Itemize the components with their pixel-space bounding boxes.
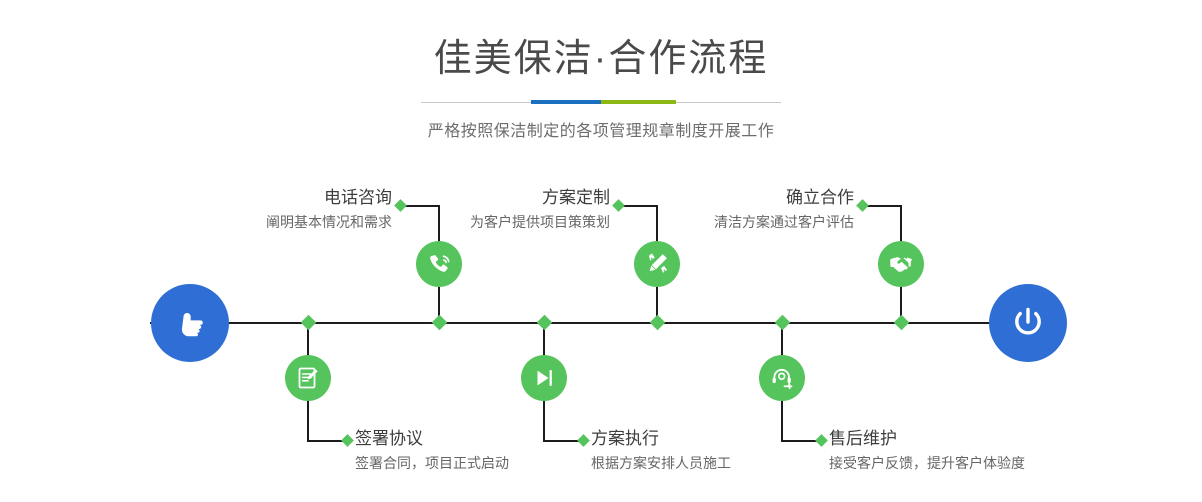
title-divider <box>421 98 781 108</box>
flowchart-page: 佳美保洁·合作流程 严格按照保洁制定的各项管理规章制度开展工作 <box>0 0 1202 502</box>
pencil-ruler-icon <box>643 250 671 278</box>
page-subtitle: 严格按照保洁制定的各项管理规章制度开展工作 <box>0 108 1202 141</box>
step-title-1: 电话咨询 <box>150 187 392 209</box>
axis-marker-phone-consultation <box>432 315 448 331</box>
axis-marker-after-sales <box>775 315 791 331</box>
page-header: 佳美保洁·合作流程 严格按照保洁制定的各项管理规章制度开展工作 <box>0 0 1202 141</box>
label-marker-5 <box>856 199 869 212</box>
play-skip-icon <box>531 365 557 391</box>
power-icon <box>1007 302 1049 344</box>
step-label-establish-cooperation: 确立合作 清洁方案通过客户评估 <box>614 187 854 233</box>
timeline-axis <box>150 322 1056 324</box>
label-elbow-vertical-4 <box>543 399 545 442</box>
axis-marker-establish-cooperation <box>894 315 910 331</box>
label-marker-2 <box>341 434 354 447</box>
step-label-phone-consultation: 电话咨询 阐明基本情况和需求 <box>150 187 392 233</box>
step-desc-4: 根据方案安排人员施工 <box>591 452 841 474</box>
step-title-4: 方案执行 <box>591 428 841 450</box>
divider-green-segment <box>601 100 676 104</box>
step-icon-plan-customization[interactable] <box>634 241 680 287</box>
step-icon-phone-consultation[interactable] <box>416 241 462 287</box>
label-elbow-vertical-2 <box>307 399 309 442</box>
divider-blue-segment <box>531 100 601 104</box>
step-icon-after-sales[interactable] <box>759 355 805 401</box>
step-title-6: 售后维护 <box>829 428 1129 450</box>
label-elbow-vertical-6 <box>781 399 783 442</box>
step-icon-plan-execution[interactable] <box>521 355 567 401</box>
step-title-2: 签署协议 <box>355 428 605 450</box>
page-title: 佳美保洁·合作流程 <box>0 0 1202 84</box>
axis-marker-plan-execution <box>537 315 553 331</box>
axis-marker-sign-agreement <box>301 315 317 331</box>
phone-call-icon <box>425 250 453 278</box>
axis-marker-plan-customization <box>650 315 666 331</box>
step-desc-3: 为客户提供项目策策划 <box>370 211 610 233</box>
step-label-plan-execution: 方案执行 根据方案安排人员施工 <box>591 428 841 474</box>
handshake-icon <box>887 250 915 278</box>
step-label-sign-agreement: 签署协议 签署合同，项目正式启动 <box>355 428 605 474</box>
document-edit-icon <box>295 365 321 391</box>
flow-end-node[interactable] <box>989 284 1067 362</box>
label-elbow-vertical-5 <box>900 205 902 243</box>
step-desc-6: 接受客户反馈，提升客户体验度 <box>829 452 1129 474</box>
step-label-plan-customization: 方案定制 为客户提供项目策策划 <box>370 187 610 233</box>
step-desc-1: 阐明基本情况和需求 <box>150 211 392 233</box>
step-desc-5: 清洁方案通过客户评估 <box>614 211 854 233</box>
step-icon-establish-cooperation[interactable] <box>878 241 924 287</box>
label-elbow-vertical-3 <box>656 205 658 243</box>
flow-start-node[interactable] <box>151 284 229 362</box>
step-desc-2: 签署合同，项目正式启动 <box>355 452 605 474</box>
step-label-after-sales: 售后维护 接受客户反馈，提升客户体验度 <box>829 428 1129 474</box>
pointing-hand-icon <box>170 303 210 343</box>
customer-service-icon <box>769 365 795 391</box>
step-icon-sign-agreement[interactable] <box>285 355 331 401</box>
label-elbow-vertical-1 <box>438 205 440 243</box>
